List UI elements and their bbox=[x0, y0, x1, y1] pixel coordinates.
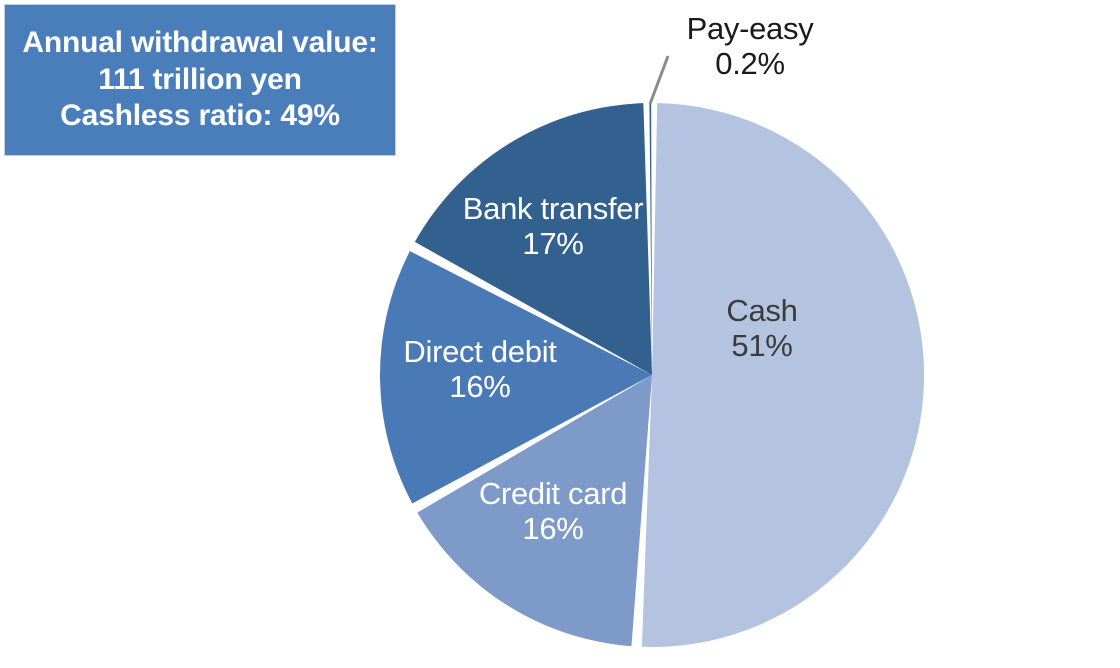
slice-label-pay-easy: Pay-easy 0.2% bbox=[655, 12, 845, 81]
chart-canvas: Annual withdrawal value: 111 trillion ye… bbox=[0, 0, 1120, 668]
pie-slice-cash bbox=[642, 103, 924, 647]
pie-slices bbox=[380, 103, 924, 647]
callout-line-3: Cashless ratio: 49% bbox=[60, 99, 340, 134]
slice-label-pay-easy-value: 0.2% bbox=[655, 47, 845, 82]
callout-line-2: 111 trillion yen bbox=[98, 63, 302, 98]
annotation-callout-box: Annual withdrawal value: 111 trillion ye… bbox=[4, 4, 396, 156]
slice-label-pay-easy-name: Pay-easy bbox=[655, 12, 845, 47]
pie-chart bbox=[377, 100, 927, 650]
callout-line-1: Annual withdrawal value: bbox=[22, 26, 377, 61]
pie-svg bbox=[377, 100, 927, 650]
